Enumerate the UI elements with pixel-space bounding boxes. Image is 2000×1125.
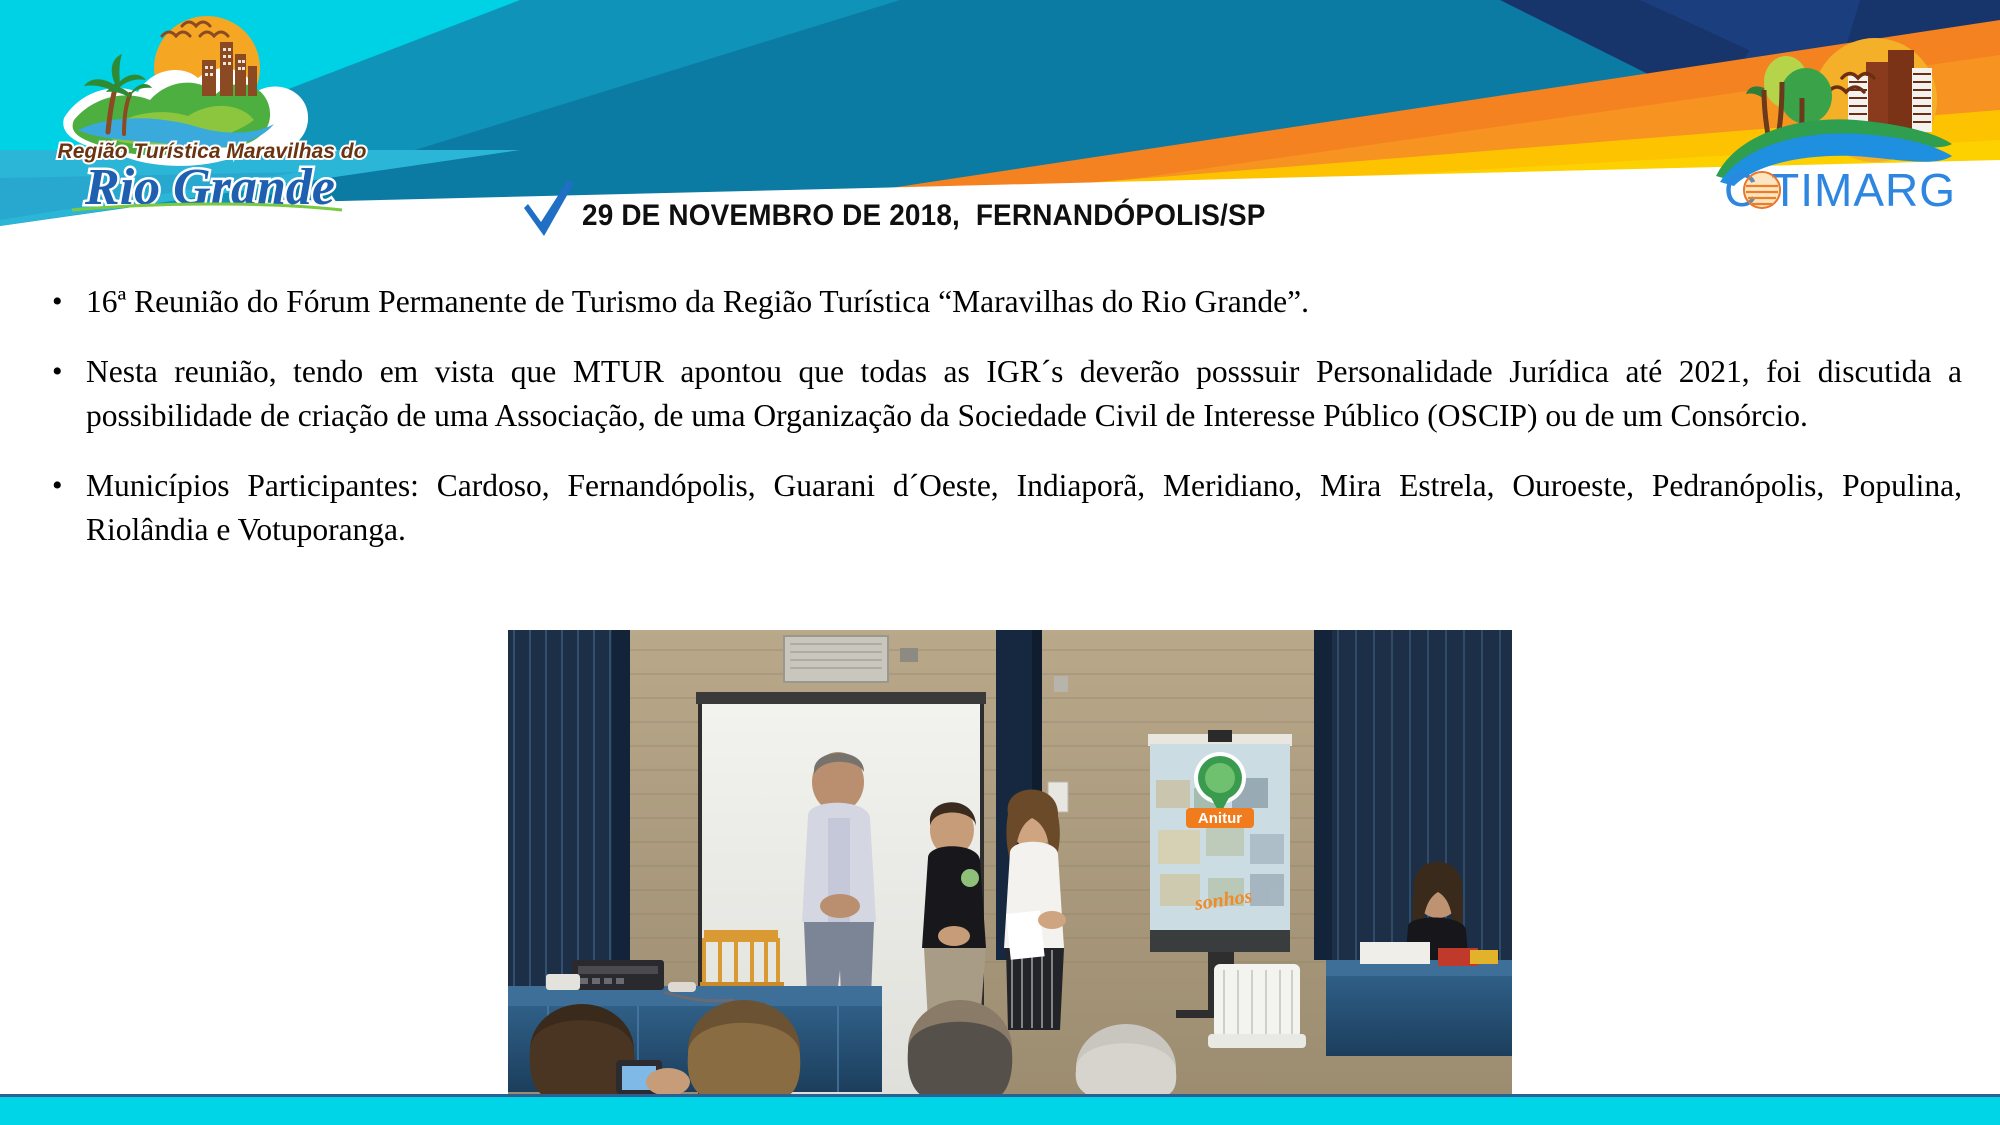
bullet-text: Nesta reunião, tendo em vista que MTUR a… [86, 350, 1962, 438]
chair-plastic [1208, 964, 1306, 1048]
bullet-marker: • [52, 350, 86, 394]
meeting-photo: Anitur sonhos [508, 630, 1512, 1096]
bullet-marker: • [52, 280, 86, 324]
bullet-text: Municípios Participantes: Cardoso, Ferna… [86, 464, 1962, 552]
bullet-marker: • [52, 464, 86, 508]
footer-bar [0, 1094, 2000, 1125]
bullet-list: • 16ª Reunião do Fórum Permanente de Tur… [0, 280, 2000, 578]
list-item: • Nesta reunião, tendo em vista que MTUR… [0, 350, 2000, 438]
logo-regiao-turistica-rio-grande: Região Turística Maravilhas do Rio Grand… [42, 8, 382, 220]
slide-root: Região Turística Maravilhas do Rio Grand… [0, 0, 2000, 1125]
person-woman-white [1004, 790, 1066, 1031]
slide-title-text: 29 DE NOVEMBRO DE 2018, FERNANDÓPOLIS/SP [582, 199, 1266, 233]
blue-check-icon [520, 178, 578, 240]
anitur-banner-text: Anitur [1198, 810, 1242, 827]
meeting-photo-graphic: Anitur sonhos [508, 630, 1512, 1096]
list-item: • 16ª Reunião do Fórum Permanente de Tur… [0, 280, 2000, 324]
list-item: • Municípios Participantes: Cardoso, Fer… [0, 464, 2000, 552]
cotimarg-logo-graphic: C TIMARG [1690, 20, 1980, 220]
logo-cotimarg: C TIMARG [1690, 20, 1980, 220]
bullet-text: 16ª Reunião do Fórum Permanente de Turis… [86, 280, 1962, 324]
rio-grande-logo-graphic: Região Turística Maravilhas do Rio Grand… [42, 8, 382, 220]
slide-title: 29 DE NOVEMBRO DE 2018, FERNANDÓPOLIS/SP [520, 192, 1317, 240]
